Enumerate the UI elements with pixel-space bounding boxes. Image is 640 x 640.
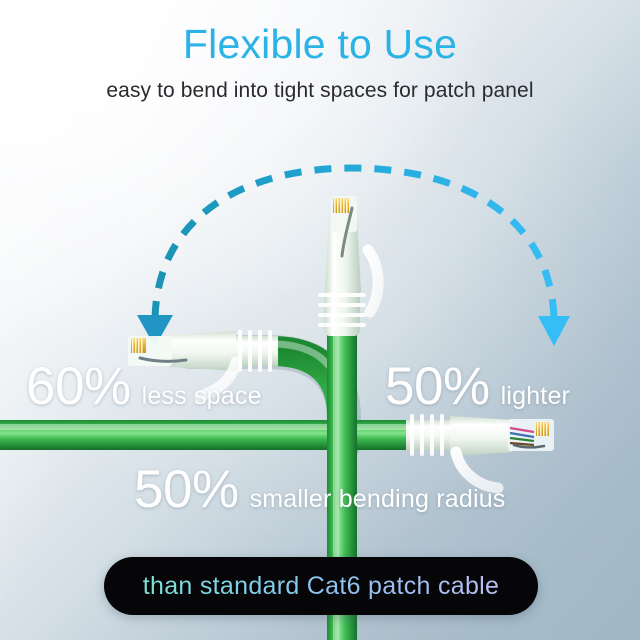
stat-lighter: 50% lighter — [385, 360, 570, 413]
stat-value: 50% — [134, 463, 239, 516]
stat-bending-radius: 50% smaller bending radius — [134, 463, 506, 516]
page-title: Flexible to Use — [0, 21, 640, 67]
cable-bottom-highlight — [0, 424, 428, 430]
product-infographic: Flexible to Use easy to bend into tight … — [0, 0, 640, 640]
swoosh-center-icon — [368, 250, 378, 312]
comparison-banner-text: than standard Cat6 patch cable — [143, 572, 499, 600]
strain-relief-right — [406, 414, 452, 456]
stat-label: lighter — [501, 384, 571, 409]
strain-relief-vertical — [318, 288, 366, 336]
stat-label: less space — [142, 384, 262, 409]
page-subtitle: easy to bend into tight spaces for patch… — [0, 78, 640, 104]
stat-label: smaller bending radius — [250, 487, 506, 512]
connector-vertical — [318, 196, 366, 336]
stat-value: 50% — [385, 360, 490, 413]
stat-value: 60% — [26, 360, 131, 413]
comparison-banner: than standard Cat6 patch cable — [104, 557, 538, 615]
stat-less-space: 60% less space — [26, 360, 262, 413]
arrow-down-right-icon — [538, 316, 570, 346]
connector-right — [406, 414, 554, 456]
